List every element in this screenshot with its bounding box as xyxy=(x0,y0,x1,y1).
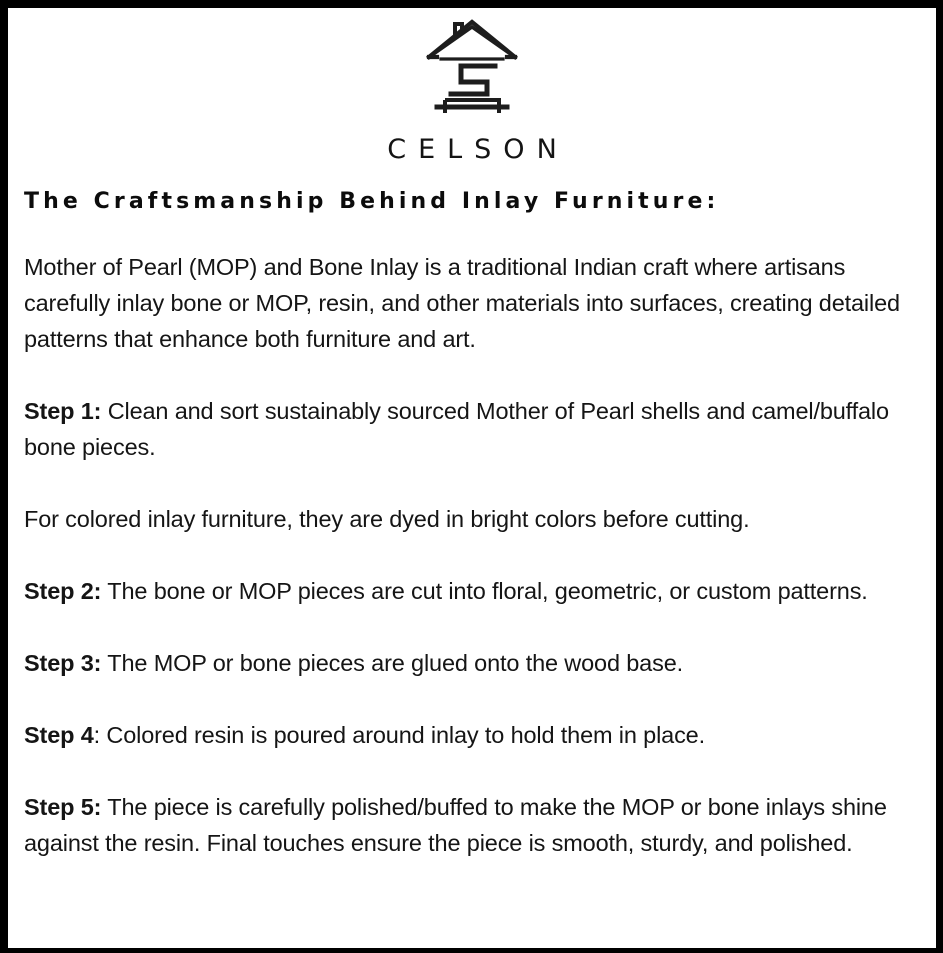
step-5-label: Step 5: xyxy=(24,794,101,820)
step-3-label: Step 3: xyxy=(24,650,101,676)
intro-paragraph: Mother of Pearl (MOP) and Bone Inlay is … xyxy=(24,249,908,357)
step-5-paragraph: Step 5: The piece is carefully polished/… xyxy=(24,789,908,861)
poster-card: CELSON The Craftsmanship Behind Inlay Fu… xyxy=(0,0,943,953)
brand-wordmark: CELSON xyxy=(375,136,569,163)
step-2-text: The bone or MOP pieces are cut into flor… xyxy=(101,578,867,604)
step-2-label: Step 2: xyxy=(24,578,101,604)
page-title: The Craftsmanship Behind Inlay Furniture… xyxy=(24,189,928,215)
article-body: Mother of Pearl (MOP) and Bone Inlay is … xyxy=(24,249,928,861)
colored-inlay-note: For colored inlay furniture, they are dy… xyxy=(24,501,908,537)
step-4-paragraph: Step 4: Colored resin is poured around i… xyxy=(24,717,908,753)
step-1-label: Step 1: xyxy=(24,398,101,424)
step-5-text: The piece is carefully polished/buffed t… xyxy=(24,794,887,856)
poster-inner: CELSON The Craftsmanship Behind Inlay Fu… xyxy=(8,8,936,948)
step-4-label: Step 4 xyxy=(24,722,94,748)
step-3-paragraph: Step 3: The MOP or bone pieces are glued… xyxy=(24,645,908,681)
step-1-paragraph: Step 1: Clean and sort sustainably sourc… xyxy=(24,393,908,465)
step-2-paragraph: Step 2: The bone or MOP pieces are cut i… xyxy=(24,573,908,609)
brand-header: CELSON xyxy=(16,8,928,163)
step-3-text: The MOP or bone pieces are glued onto th… xyxy=(101,650,683,676)
step-4-text: : Colored resin is poured around inlay t… xyxy=(94,722,705,748)
step-1-text: Clean and sort sustainably sourced Mothe… xyxy=(24,398,889,460)
house-monogram-icon xyxy=(425,14,519,116)
